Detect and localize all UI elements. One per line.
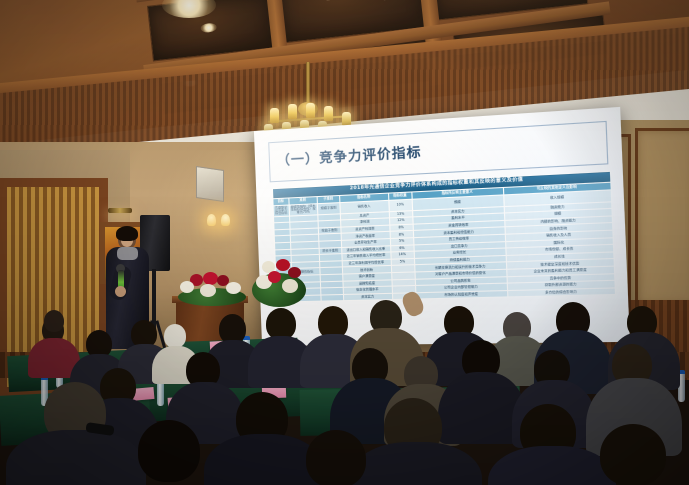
audience-head-foreground xyxy=(600,424,666,485)
slide-table-cell xyxy=(321,294,344,301)
wall-sconce xyxy=(207,212,233,230)
slide-table-cell: 市场的认知度和声誉度 xyxy=(415,290,508,299)
floral-arrangement xyxy=(172,272,250,306)
audience-body-foreground xyxy=(6,430,146,485)
audience-head-foreground xyxy=(138,420,200,482)
slide-table-cell: 光通信企业竞争力综合指标 xyxy=(273,205,289,216)
conference-photo: （一）竞争力评价指标 2018年光通信企业竞争力评价体系构成的指标权重和其反映的… xyxy=(0,0,689,485)
presenter-scarf xyxy=(117,247,138,260)
audience-body-foreground xyxy=(350,442,482,485)
stage-flowers xyxy=(252,255,308,311)
slide-table: 2018年光通信企业竞争力评价体系构成的指标权重和其反映的意义及价值目标准则子准… xyxy=(272,171,616,303)
audience-head xyxy=(164,324,186,348)
wall-mounted-speaker xyxy=(196,166,224,202)
audience-head-foreground xyxy=(306,430,366,485)
presenter-hair xyxy=(116,226,138,241)
slide-table-cell: 多方位的综合影响力 xyxy=(508,288,616,298)
audience-head xyxy=(44,310,64,332)
picture-light-icon xyxy=(108,208,132,213)
presenter-hand xyxy=(115,286,126,297)
